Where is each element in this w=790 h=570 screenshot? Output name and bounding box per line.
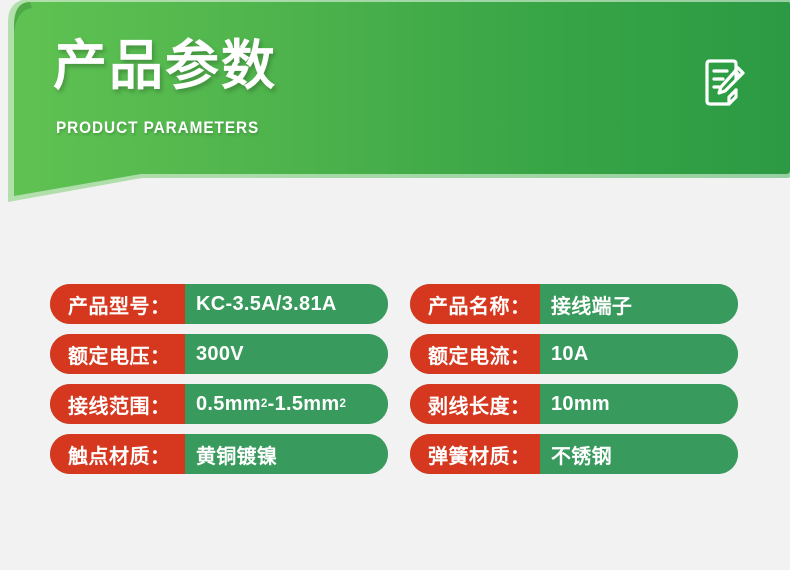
param-label: 额定电流： [410,334,540,374]
param-row-spring-material: 弹簧材质： 不锈钢 [410,434,738,474]
param-row-rated-current: 额定电流： 10A [410,334,738,374]
parameters-section: 产品型号： KC-3.5A/3.81A 额定电压： 300V 接线范围： 0.5… [0,0,790,570]
param-row-strip-length: 剥线长度： 10mm [410,384,738,424]
param-value: 0.5mm2-1.5mm2 [185,384,388,424]
parameters-left-column: 产品型号： KC-3.5A/3.81A 额定电压： 300V 接线范围： 0.5… [50,284,388,484]
param-row-contact-material: 触点材质： 黄铜镀镍 [50,434,388,474]
param-value: 10A [540,334,738,374]
param-row-rated-voltage: 额定电压： 300V [50,334,388,374]
param-value: KC-3.5A/3.81A [185,284,388,324]
param-label: 产品型号： [50,284,185,324]
param-value: 300V [185,334,388,374]
param-label: 额定电压： [50,334,185,374]
param-value: 不锈钢 [540,434,738,474]
param-label: 产品名称： [410,284,540,324]
param-row-wire-range: 接线范围： 0.5mm2-1.5mm2 [50,384,388,424]
param-value: 10mm [540,384,738,424]
param-row-product-name: 产品名称： 接线端子 [410,284,738,324]
param-value: 黄铜镀镍 [185,434,388,474]
param-value: 接线端子 [540,284,738,324]
parameters-right-column: 产品名称： 接线端子 额定电流： 10A 剥线长度： 10mm 弹簧材质： 不锈… [410,284,738,484]
param-row-model: 产品型号： KC-3.5A/3.81A [50,284,388,324]
param-label: 剥线长度： [410,384,540,424]
param-label: 弹簧材质： [410,434,540,474]
param-label: 接线范围： [50,384,185,424]
param-label: 触点材质： [50,434,185,474]
